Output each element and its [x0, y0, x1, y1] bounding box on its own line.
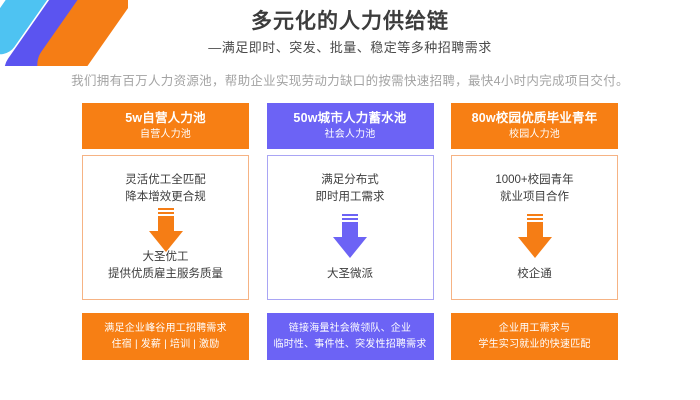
page-header: 多元化的人力供给链 —满足即时、突发、批量、稳定等多种招聘需求 [0, 8, 700, 59]
card-body-bottom-line1: 大圣微派 [327, 266, 373, 283]
page-description: 我们拥有百万人力资源池，帮助企业实现劳动力缺口的按需快速招聘，最快4小时内完成项… [0, 70, 700, 89]
card-footer-line1: 满足企业峰谷用工招聘需求 [104, 321, 226, 337]
card-body-top-line1: 满足分布式 [316, 172, 385, 189]
card-city-reservoir-pool[interactable]: 50w城市人力蓄水池 社会人力池 满足分布式 即时用工需求 大圣微派 链接海量社… [267, 103, 434, 360]
card-body-bottom: 校企通 [517, 266, 552, 283]
card-header-title: 80w校园优质毕业青年 [472, 110, 598, 127]
card-footer-line2: 临时性、事件性、突发性招聘需求 [274, 337, 427, 353]
card-footer-line2: 住宿 | 发薪 | 培训 | 激励 [112, 337, 220, 353]
arrow-head [149, 231, 183, 252]
arrow-shaft [342, 222, 358, 238]
cards-row: 5w自营人力池 自营人力池 灵活优工全匹配 降本增效更合规 大圣优工 提供优质雇… [82, 103, 618, 360]
arrow-shaft [158, 216, 174, 232]
arrow-dash-2 [342, 218, 358, 220]
card-body-bottom: 大圣优工 提供优质雇主服务质量 [108, 249, 223, 283]
card-footer: 链接海量社会微领队、企业 临时性、事件性、突发性招聘需求 [267, 313, 434, 360]
card-header-subtitle: 校园人力池 [509, 127, 560, 142]
card-body-top-line2: 就业项目合作 [495, 189, 573, 206]
card-body-top: 满足分布式 即时用工需求 [316, 172, 385, 206]
card-footer-line1: 链接海量社会微领队、企业 [289, 321, 411, 337]
card-footer: 满足企业峰谷用工招聘需求 住宿 | 发薪 | 培训 | 激励 [82, 313, 249, 360]
arrow-shaft [527, 222, 543, 238]
arrow-dash-2 [158, 212, 174, 214]
card-self-operated-pool[interactable]: 5w自营人力池 自营人力池 灵活优工全匹配 降本增效更合规 大圣优工 提供优质雇… [82, 103, 249, 360]
page-title: 多元化的人力供给链 [0, 8, 700, 36]
card-header: 5w自营人力池 自营人力池 [82, 103, 249, 149]
card-footer-line1: 企业用工需求与 [499, 321, 570, 337]
card-body-bottom-line1: 校企通 [517, 266, 552, 283]
arrow-dash-2 [527, 218, 543, 220]
card-body-bottom-line2: 提供优质雇主服务质量 [108, 266, 223, 283]
card-body-bottom: 大圣微派 [327, 266, 373, 283]
card-header-subtitle: 社会人力池 [325, 127, 376, 142]
arrow-dash-1 [527, 214, 543, 216]
card-header: 50w城市人力蓄水池 社会人力池 [267, 103, 434, 149]
card-body-top: 灵活优工全匹配 降本增效更合规 [125, 172, 206, 206]
card-header: 80w校园优质毕业青年 校园人力池 [451, 103, 618, 149]
arrow-head [333, 237, 367, 258]
page-subtitle: —满足即时、突发、批量、稳定等多种招聘需求 [0, 37, 700, 59]
card-body-top-line1: 1000+校园青年 [495, 172, 573, 189]
arrow-dash-1 [342, 214, 358, 216]
card-body-top-line2: 即时用工需求 [316, 189, 385, 206]
card-body-top-line2: 降本增效更合规 [125, 189, 206, 206]
down-arrow-icon [518, 214, 552, 258]
card-body-top-line1: 灵活优工全匹配 [125, 172, 206, 189]
card-campus-graduate-pool[interactable]: 80w校园优质毕业青年 校园人力池 1000+校园青年 就业项目合作 校企通 企… [451, 103, 618, 360]
card-header-title: 50w城市人力蓄水池 [293, 110, 406, 127]
card-body: 1000+校园青年 就业项目合作 校企通 [451, 155, 618, 300]
card-header-title: 5w自营人力池 [125, 110, 206, 127]
card-footer-line2: 学生实习就业的快速匹配 [478, 337, 590, 353]
card-body: 满足分布式 即时用工需求 大圣微派 [267, 155, 434, 300]
down-arrow-icon [333, 214, 367, 258]
card-header-subtitle: 自营人力池 [140, 127, 191, 142]
arrow-dash-1 [158, 208, 174, 210]
card-footer: 企业用工需求与 学生实习就业的快速匹配 [451, 313, 618, 360]
down-arrow-icon [149, 208, 183, 247]
arrow-head [518, 237, 552, 258]
card-body-top: 1000+校园青年 就业项目合作 [495, 172, 573, 206]
card-body: 灵活优工全匹配 降本增效更合规 大圣优工 提供优质雇主服务质量 [82, 155, 249, 300]
